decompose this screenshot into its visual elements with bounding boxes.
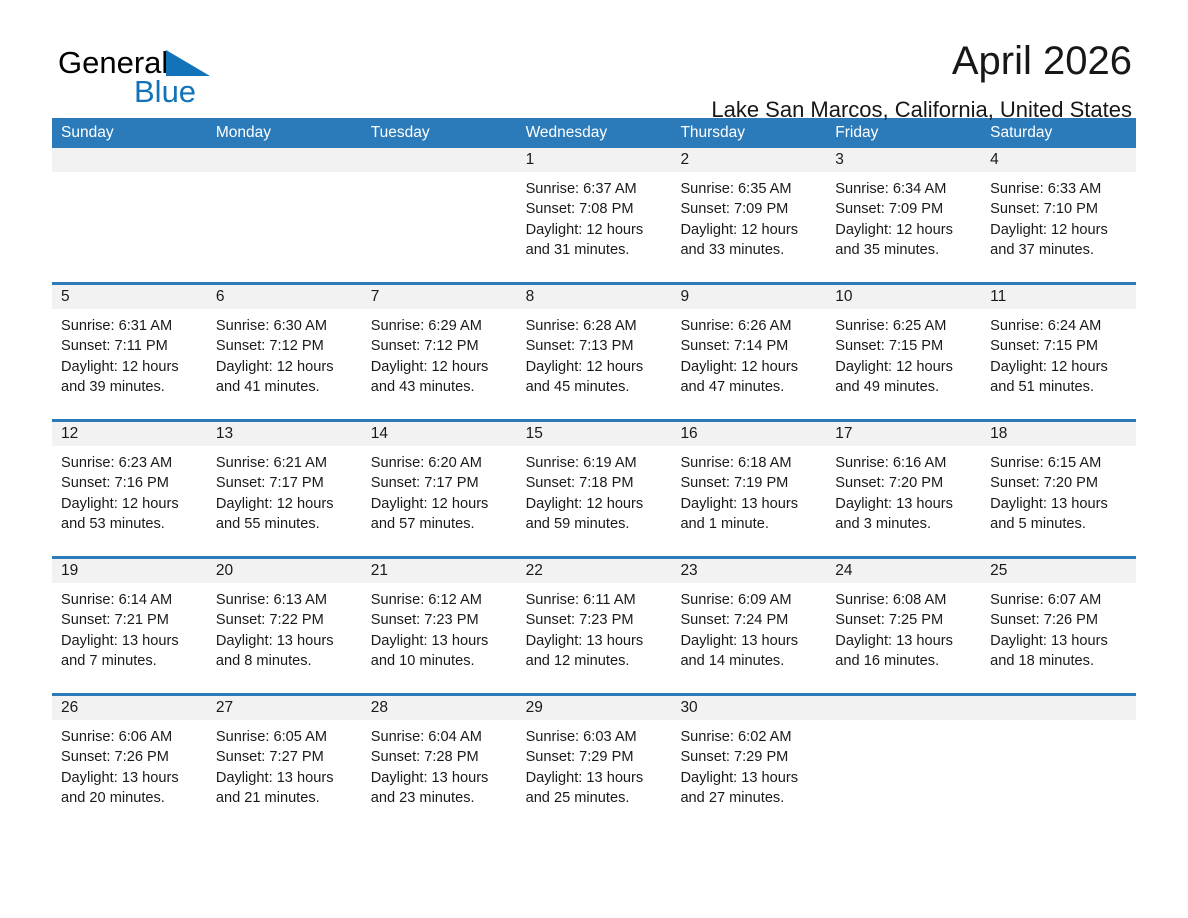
day-number: 14 xyxy=(362,422,517,446)
day-number: 29 xyxy=(517,696,672,720)
week-row: 19Sunrise: 6:14 AMSunset: 7:21 PMDayligh… xyxy=(52,556,1136,687)
day-details: Sunrise: 6:11 AMSunset: 7:23 PMDaylight:… xyxy=(517,583,672,672)
sunset-text: Sunset: 7:27 PM xyxy=(216,747,353,767)
location-subtitle: Lake San Marcos, California, United Stat… xyxy=(711,96,1132,124)
day-number: 4 xyxy=(981,148,1136,172)
daylight-text-line1: Daylight: 12 hours xyxy=(835,357,972,377)
sunrise-text: Sunrise: 6:34 AM xyxy=(835,179,972,199)
sunset-text: Sunset: 7:15 PM xyxy=(990,336,1127,356)
day-details: Sunrise: 6:35 AMSunset: 7:09 PMDaylight:… xyxy=(671,172,826,261)
day-details: Sunrise: 6:26 AMSunset: 7:14 PMDaylight:… xyxy=(671,309,826,398)
daylight-text-line1: Daylight: 12 hours xyxy=(61,494,198,514)
daylight-text-line1: Daylight: 13 hours xyxy=(680,494,817,514)
logo-line-blue: Blue xyxy=(58,77,318,109)
day-number: 9 xyxy=(671,285,826,309)
day-details: Sunrise: 6:28 AMSunset: 7:13 PMDaylight:… xyxy=(517,309,672,398)
daylight-text-line2: and 31 minutes. xyxy=(526,240,663,260)
day-cell[interactable]: 9Sunrise: 6:26 AMSunset: 7:14 PMDaylight… xyxy=(671,285,826,413)
sunrise-text: Sunrise: 6:06 AM xyxy=(61,727,198,747)
sunrise-text: Sunrise: 6:18 AM xyxy=(680,453,817,473)
day-details: Sunrise: 6:29 AMSunset: 7:12 PMDaylight:… xyxy=(362,309,517,398)
sunrise-text: Sunrise: 6:33 AM xyxy=(990,179,1127,199)
day-details: Sunrise: 6:15 AMSunset: 7:20 PMDaylight:… xyxy=(981,446,1136,535)
daylight-text-line1: Daylight: 12 hours xyxy=(526,494,663,514)
daylight-text-line1: Daylight: 13 hours xyxy=(526,631,663,651)
day-number: 12 xyxy=(52,422,207,446)
day-details: Sunrise: 6:19 AMSunset: 7:18 PMDaylight:… xyxy=(517,446,672,535)
day-cell[interactable]: 13Sunrise: 6:21 AMSunset: 7:17 PMDayligh… xyxy=(207,422,362,550)
sunset-text: Sunset: 7:11 PM xyxy=(61,336,198,356)
daylight-text-line1: Daylight: 12 hours xyxy=(680,220,817,240)
daylight-text-line1: Daylight: 13 hours xyxy=(990,631,1127,651)
daylight-text-line2: and 12 minutes. xyxy=(526,651,663,671)
daylight-text-line2: and 49 minutes. xyxy=(835,377,972,397)
daylight-text-line2: and 59 minutes. xyxy=(526,514,663,534)
daylight-text-line2: and 21 minutes. xyxy=(216,788,353,808)
sunrise-text: Sunrise: 6:09 AM xyxy=(680,590,817,610)
daylight-text-line2: and 5 minutes. xyxy=(990,514,1127,534)
daylight-text-line2: and 45 minutes. xyxy=(526,377,663,397)
day-details: Sunrise: 6:21 AMSunset: 7:17 PMDaylight:… xyxy=(207,446,362,535)
day-cell[interactable]: 2Sunrise: 6:35 AMSunset: 7:09 PMDaylight… xyxy=(671,148,826,276)
daylight-text-line2: and 20 minutes. xyxy=(61,788,198,808)
day-cell[interactable]: 10Sunrise: 6:25 AMSunset: 7:15 PMDayligh… xyxy=(826,285,981,413)
sunset-text: Sunset: 7:13 PM xyxy=(526,336,663,356)
week-row: 12Sunrise: 6:23 AMSunset: 7:16 PMDayligh… xyxy=(52,419,1136,550)
week-row: 1Sunrise: 6:37 AMSunset: 7:08 PMDaylight… xyxy=(52,148,1136,276)
daylight-text-line2: and 43 minutes. xyxy=(371,377,508,397)
day-cell-empty xyxy=(362,148,517,276)
day-number: 26 xyxy=(52,696,207,720)
page-header: General Blue April 2026 Lake San Marcos,… xyxy=(52,0,1136,110)
daylight-text-line1: Daylight: 13 hours xyxy=(371,631,508,651)
daylight-text-line1: Daylight: 12 hours xyxy=(61,357,198,377)
day-cell[interactable]: 3Sunrise: 6:34 AMSunset: 7:09 PMDaylight… xyxy=(826,148,981,276)
day-details: Sunrise: 6:04 AMSunset: 7:28 PMDaylight:… xyxy=(362,720,517,809)
day-number xyxy=(52,148,207,172)
daylight-text-line1: Daylight: 12 hours xyxy=(680,357,817,377)
day-cell[interactable]: 12Sunrise: 6:23 AMSunset: 7:16 PMDayligh… xyxy=(52,422,207,550)
sunrise-text: Sunrise: 6:28 AM xyxy=(526,316,663,336)
day-cell-empty xyxy=(826,696,981,824)
daylight-text-line2: and 53 minutes. xyxy=(61,514,198,534)
sunset-text: Sunset: 7:23 PM xyxy=(526,610,663,630)
day-number: 5 xyxy=(52,285,207,309)
sunrise-text: Sunrise: 6:08 AM xyxy=(835,590,972,610)
sunset-text: Sunset: 7:14 PM xyxy=(680,336,817,356)
daylight-text-line1: Daylight: 13 hours xyxy=(216,768,353,788)
sunrise-text: Sunrise: 6:03 AM xyxy=(526,727,663,747)
day-details: Sunrise: 6:34 AMSunset: 7:09 PMDaylight:… xyxy=(826,172,981,261)
daylight-text-line2: and 1 minute. xyxy=(680,514,817,534)
sunrise-text: Sunrise: 6:02 AM xyxy=(680,727,817,747)
day-details: Sunrise: 6:25 AMSunset: 7:15 PMDaylight:… xyxy=(826,309,981,398)
day-cell[interactable]: 22Sunrise: 6:11 AMSunset: 7:23 PMDayligh… xyxy=(517,559,672,687)
sunrise-text: Sunrise: 6:26 AM xyxy=(680,316,817,336)
sunset-text: Sunset: 7:26 PM xyxy=(61,747,198,767)
day-details: Sunrise: 6:05 AMSunset: 7:27 PMDaylight:… xyxy=(207,720,362,809)
daylight-text-line1: Daylight: 13 hours xyxy=(835,494,972,514)
day-number xyxy=(826,696,981,720)
day-cell[interactable]: 6Sunrise: 6:30 AMSunset: 7:12 PMDaylight… xyxy=(207,285,362,413)
day-number: 15 xyxy=(517,422,672,446)
day-number: 13 xyxy=(207,422,362,446)
day-cell[interactable]: 25Sunrise: 6:07 AMSunset: 7:26 PMDayligh… xyxy=(981,559,1136,687)
day-number: 19 xyxy=(52,559,207,583)
day-number: 10 xyxy=(826,285,981,309)
day-details: Sunrise: 6:07 AMSunset: 7:26 PMDaylight:… xyxy=(981,583,1136,672)
day-number xyxy=(981,696,1136,720)
daylight-text-line1: Daylight: 12 hours xyxy=(835,220,972,240)
day-number: 6 xyxy=(207,285,362,309)
day-cell[interactable]: 28Sunrise: 6:04 AMSunset: 7:28 PMDayligh… xyxy=(362,696,517,824)
day-number: 11 xyxy=(981,285,1136,309)
day-details: Sunrise: 6:33 AMSunset: 7:10 PMDaylight:… xyxy=(981,172,1136,261)
sunset-text: Sunset: 7:20 PM xyxy=(835,473,972,493)
day-cell[interactable]: 5Sunrise: 6:31 AMSunset: 7:11 PMDaylight… xyxy=(52,285,207,413)
sunrise-text: Sunrise: 6:19 AM xyxy=(526,453,663,473)
week-row: 26Sunrise: 6:06 AMSunset: 7:26 PMDayligh… xyxy=(52,693,1136,824)
day-number: 25 xyxy=(981,559,1136,583)
day-number xyxy=(207,148,362,172)
day-cell[interactable]: 15Sunrise: 6:19 AMSunset: 7:18 PMDayligh… xyxy=(517,422,672,550)
weekday-tuesday: Tuesday xyxy=(362,118,517,148)
day-details: Sunrise: 6:14 AMSunset: 7:21 PMDaylight:… xyxy=(52,583,207,672)
day-cell[interactable]: 27Sunrise: 6:05 AMSunset: 7:27 PMDayligh… xyxy=(207,696,362,824)
sunset-text: Sunset: 7:29 PM xyxy=(680,747,817,767)
day-cell[interactable]: 8Sunrise: 6:28 AMSunset: 7:13 PMDaylight… xyxy=(517,285,672,413)
day-cell-empty xyxy=(207,148,362,276)
daylight-text-line1: Daylight: 13 hours xyxy=(990,494,1127,514)
day-details: Sunrise: 6:03 AMSunset: 7:29 PMDaylight:… xyxy=(517,720,672,809)
sunset-text: Sunset: 7:09 PM xyxy=(680,199,817,219)
sunset-text: Sunset: 7:24 PM xyxy=(680,610,817,630)
sunset-text: Sunset: 7:09 PM xyxy=(835,199,972,219)
sunset-text: Sunset: 7:12 PM xyxy=(371,336,508,356)
sunrise-text: Sunrise: 6:11 AM xyxy=(526,590,663,610)
day-cell[interactable]: 1Sunrise: 6:37 AMSunset: 7:08 PMDaylight… xyxy=(517,148,672,276)
sunset-text: Sunset: 7:16 PM xyxy=(61,473,198,493)
daylight-text-line2: and 33 minutes. xyxy=(680,240,817,260)
day-details: Sunrise: 6:16 AMSunset: 7:20 PMDaylight:… xyxy=(826,446,981,535)
sunset-text: Sunset: 7:28 PM xyxy=(371,747,508,767)
day-cell[interactable]: 20Sunrise: 6:13 AMSunset: 7:22 PMDayligh… xyxy=(207,559,362,687)
daylight-text-line1: Daylight: 13 hours xyxy=(835,631,972,651)
sunset-text: Sunset: 7:10 PM xyxy=(990,199,1127,219)
daylight-text-line2: and 55 minutes. xyxy=(216,514,353,534)
day-number xyxy=(362,148,517,172)
day-cell[interactable]: 29Sunrise: 6:03 AMSunset: 7:29 PMDayligh… xyxy=(517,696,672,824)
sunset-text: Sunset: 7:08 PM xyxy=(526,199,663,219)
sunset-text: Sunset: 7:12 PM xyxy=(216,336,353,356)
sunrise-text: Sunrise: 6:21 AM xyxy=(216,453,353,473)
sunset-text: Sunset: 7:19 PM xyxy=(680,473,817,493)
page-title: April 2026 xyxy=(711,38,1132,84)
sunrise-text: Sunrise: 6:24 AM xyxy=(990,316,1127,336)
sunrise-text: Sunrise: 6:30 AM xyxy=(216,316,353,336)
sunset-text: Sunset: 7:26 PM xyxy=(990,610,1127,630)
day-number: 21 xyxy=(362,559,517,583)
day-details: Sunrise: 6:06 AMSunset: 7:26 PMDaylight:… xyxy=(52,720,207,809)
title-block: April 2026 Lake San Marcos, California, … xyxy=(711,38,1132,124)
day-cell-empty xyxy=(52,148,207,276)
day-details: Sunrise: 6:18 AMSunset: 7:19 PMDaylight:… xyxy=(671,446,826,535)
daylight-text-line2: and 23 minutes. xyxy=(371,788,508,808)
day-details: Sunrise: 6:08 AMSunset: 7:25 PMDaylight:… xyxy=(826,583,981,672)
day-number: 18 xyxy=(981,422,1136,446)
weekday-monday: Monday xyxy=(207,118,362,148)
day-number: 22 xyxy=(517,559,672,583)
day-number: 20 xyxy=(207,559,362,583)
sunset-text: Sunset: 7:22 PM xyxy=(216,610,353,630)
day-details: Sunrise: 6:30 AMSunset: 7:12 PMDaylight:… xyxy=(207,309,362,398)
day-cell[interactable]: 23Sunrise: 6:09 AMSunset: 7:24 PMDayligh… xyxy=(671,559,826,687)
daylight-text-line1: Daylight: 12 hours xyxy=(371,357,508,377)
daylight-text-line2: and 18 minutes. xyxy=(990,651,1127,671)
day-cell-empty xyxy=(981,696,1136,824)
daylight-text-line2: and 37 minutes. xyxy=(990,240,1127,260)
sunrise-text: Sunrise: 6:31 AM xyxy=(61,316,198,336)
day-number: 7 xyxy=(362,285,517,309)
day-number: 30 xyxy=(671,696,826,720)
general-blue-logo: General Blue xyxy=(58,46,318,108)
day-details: Sunrise: 6:23 AMSunset: 7:16 PMDaylight:… xyxy=(52,446,207,535)
day-details: Sunrise: 6:02 AMSunset: 7:29 PMDaylight:… xyxy=(671,720,826,809)
day-number: 24 xyxy=(826,559,981,583)
daylight-text-line1: Daylight: 13 hours xyxy=(61,768,198,788)
triangle-icon xyxy=(166,50,210,76)
weekday-wednesday: Wednesday xyxy=(517,118,672,148)
logo-line-general: General xyxy=(58,46,318,80)
logo-text-general: General xyxy=(58,45,168,80)
day-cell[interactable]: 16Sunrise: 6:18 AMSunset: 7:19 PMDayligh… xyxy=(671,422,826,550)
daylight-text-line2: and 57 minutes. xyxy=(371,514,508,534)
sunset-text: Sunset: 7:17 PM xyxy=(371,473,508,493)
day-number: 23 xyxy=(671,559,826,583)
day-cell[interactable]: 21Sunrise: 6:12 AMSunset: 7:23 PMDayligh… xyxy=(362,559,517,687)
daylight-text-line2: and 35 minutes. xyxy=(835,240,972,260)
daylight-text-line1: Daylight: 12 hours xyxy=(990,357,1127,377)
sunrise-text: Sunrise: 6:05 AM xyxy=(216,727,353,747)
week-row: 5Sunrise: 6:31 AMSunset: 7:11 PMDaylight… xyxy=(52,282,1136,413)
day-details: Sunrise: 6:09 AMSunset: 7:24 PMDaylight:… xyxy=(671,583,826,672)
day-number: 2 xyxy=(671,148,826,172)
day-cell[interactable]: 24Sunrise: 6:08 AMSunset: 7:25 PMDayligh… xyxy=(826,559,981,687)
sunset-text: Sunset: 7:18 PM xyxy=(526,473,663,493)
day-cell[interactable]: 14Sunrise: 6:20 AMSunset: 7:17 PMDayligh… xyxy=(362,422,517,550)
weekday-sunday: Sunday xyxy=(52,118,207,148)
sunrise-text: Sunrise: 6:20 AM xyxy=(371,453,508,473)
day-cell[interactable]: 18Sunrise: 6:15 AMSunset: 7:20 PMDayligh… xyxy=(981,422,1136,550)
day-details: Sunrise: 6:24 AMSunset: 7:15 PMDaylight:… xyxy=(981,309,1136,398)
sunrise-text: Sunrise: 6:16 AM xyxy=(835,453,972,473)
sunrise-text: Sunrise: 6:23 AM xyxy=(61,453,198,473)
daylight-text-line2: and 51 minutes. xyxy=(990,377,1127,397)
sunrise-text: Sunrise: 6:35 AM xyxy=(680,179,817,199)
day-details: Sunrise: 6:12 AMSunset: 7:23 PMDaylight:… xyxy=(362,583,517,672)
day-details: Sunrise: 6:13 AMSunset: 7:22 PMDaylight:… xyxy=(207,583,362,672)
sunset-text: Sunset: 7:15 PM xyxy=(835,336,972,356)
sunrise-text: Sunrise: 6:14 AM xyxy=(61,590,198,610)
calendar-page: General Blue April 2026 Lake San Marcos,… xyxy=(0,0,1188,918)
daylight-text-line1: Daylight: 12 hours xyxy=(990,220,1127,240)
day-cell[interactable]: 4Sunrise: 6:33 AMSunset: 7:10 PMDaylight… xyxy=(981,148,1136,276)
daylight-text-line2: and 14 minutes. xyxy=(680,651,817,671)
day-cell[interactable]: 26Sunrise: 6:06 AMSunset: 7:26 PMDayligh… xyxy=(52,696,207,824)
daylight-text-line2: and 39 minutes. xyxy=(61,377,198,397)
day-number: 16 xyxy=(671,422,826,446)
day-details: Sunrise: 6:37 AMSunset: 7:08 PMDaylight:… xyxy=(517,172,672,261)
daylight-text-line1: Daylight: 13 hours xyxy=(680,631,817,651)
day-number: 8 xyxy=(517,285,672,309)
calendar-grid: Sunday Monday Tuesday Wednesday Thursday… xyxy=(52,118,1136,824)
day-cell[interactable]: 30Sunrise: 6:02 AMSunset: 7:29 PMDayligh… xyxy=(671,696,826,824)
sunrise-text: Sunrise: 6:07 AM xyxy=(990,590,1127,610)
daylight-text-line1: Daylight: 13 hours xyxy=(526,768,663,788)
day-cell[interactable]: 19Sunrise: 6:14 AMSunset: 7:21 PMDayligh… xyxy=(52,559,207,687)
daylight-text-line2: and 8 minutes. xyxy=(216,651,353,671)
daylight-text-line1: Daylight: 12 hours xyxy=(216,494,353,514)
daylight-text-line1: Daylight: 13 hours xyxy=(371,768,508,788)
daylight-text-line2: and 3 minutes. xyxy=(835,514,972,534)
calendar-weeks: 1Sunrise: 6:37 AMSunset: 7:08 PMDaylight… xyxy=(52,148,1136,824)
daylight-text-line1: Daylight: 13 hours xyxy=(61,631,198,651)
sunset-text: Sunset: 7:17 PM xyxy=(216,473,353,493)
daylight-text-line1: Daylight: 12 hours xyxy=(216,357,353,377)
sunset-text: Sunset: 7:23 PM xyxy=(371,610,508,630)
sunrise-text: Sunrise: 6:29 AM xyxy=(371,316,508,336)
day-cell[interactable]: 17Sunrise: 6:16 AMSunset: 7:20 PMDayligh… xyxy=(826,422,981,550)
day-number: 3 xyxy=(826,148,981,172)
day-cell[interactable]: 11Sunrise: 6:24 AMSunset: 7:15 PMDayligh… xyxy=(981,285,1136,413)
daylight-text-line1: Daylight: 13 hours xyxy=(216,631,353,651)
daylight-text-line2: and 7 minutes. xyxy=(61,651,198,671)
day-number: 27 xyxy=(207,696,362,720)
daylight-text-line2: and 41 minutes. xyxy=(216,377,353,397)
sunset-text: Sunset: 7:25 PM xyxy=(835,610,972,630)
sunrise-text: Sunrise: 6:13 AM xyxy=(216,590,353,610)
daylight-text-line1: Daylight: 12 hours xyxy=(371,494,508,514)
daylight-text-line2: and 16 minutes. xyxy=(835,651,972,671)
sunset-text: Sunset: 7:29 PM xyxy=(526,747,663,767)
daylight-text-line2: and 25 minutes. xyxy=(526,788,663,808)
day-cell[interactable]: 7Sunrise: 6:29 AMSunset: 7:12 PMDaylight… xyxy=(362,285,517,413)
sunrise-text: Sunrise: 6:15 AM xyxy=(990,453,1127,473)
daylight-text-line1: Daylight: 12 hours xyxy=(526,357,663,377)
day-details: Sunrise: 6:31 AMSunset: 7:11 PMDaylight:… xyxy=(52,309,207,398)
daylight-text-line2: and 27 minutes. xyxy=(680,788,817,808)
day-number: 17 xyxy=(826,422,981,446)
sunset-text: Sunset: 7:20 PM xyxy=(990,473,1127,493)
daylight-text-line2: and 47 minutes. xyxy=(680,377,817,397)
daylight-text-line1: Daylight: 13 hours xyxy=(680,768,817,788)
sunrise-text: Sunrise: 6:12 AM xyxy=(371,590,508,610)
sunset-text: Sunset: 7:21 PM xyxy=(61,610,198,630)
sunrise-text: Sunrise: 6:25 AM xyxy=(835,316,972,336)
daylight-text-line1: Daylight: 12 hours xyxy=(526,220,663,240)
sunrise-text: Sunrise: 6:04 AM xyxy=(371,727,508,747)
day-details: Sunrise: 6:20 AMSunset: 7:17 PMDaylight:… xyxy=(362,446,517,535)
daylight-text-line2: and 10 minutes. xyxy=(371,651,508,671)
sunrise-text: Sunrise: 6:37 AM xyxy=(526,179,663,199)
day-number: 1 xyxy=(517,148,672,172)
day-number: 28 xyxy=(362,696,517,720)
